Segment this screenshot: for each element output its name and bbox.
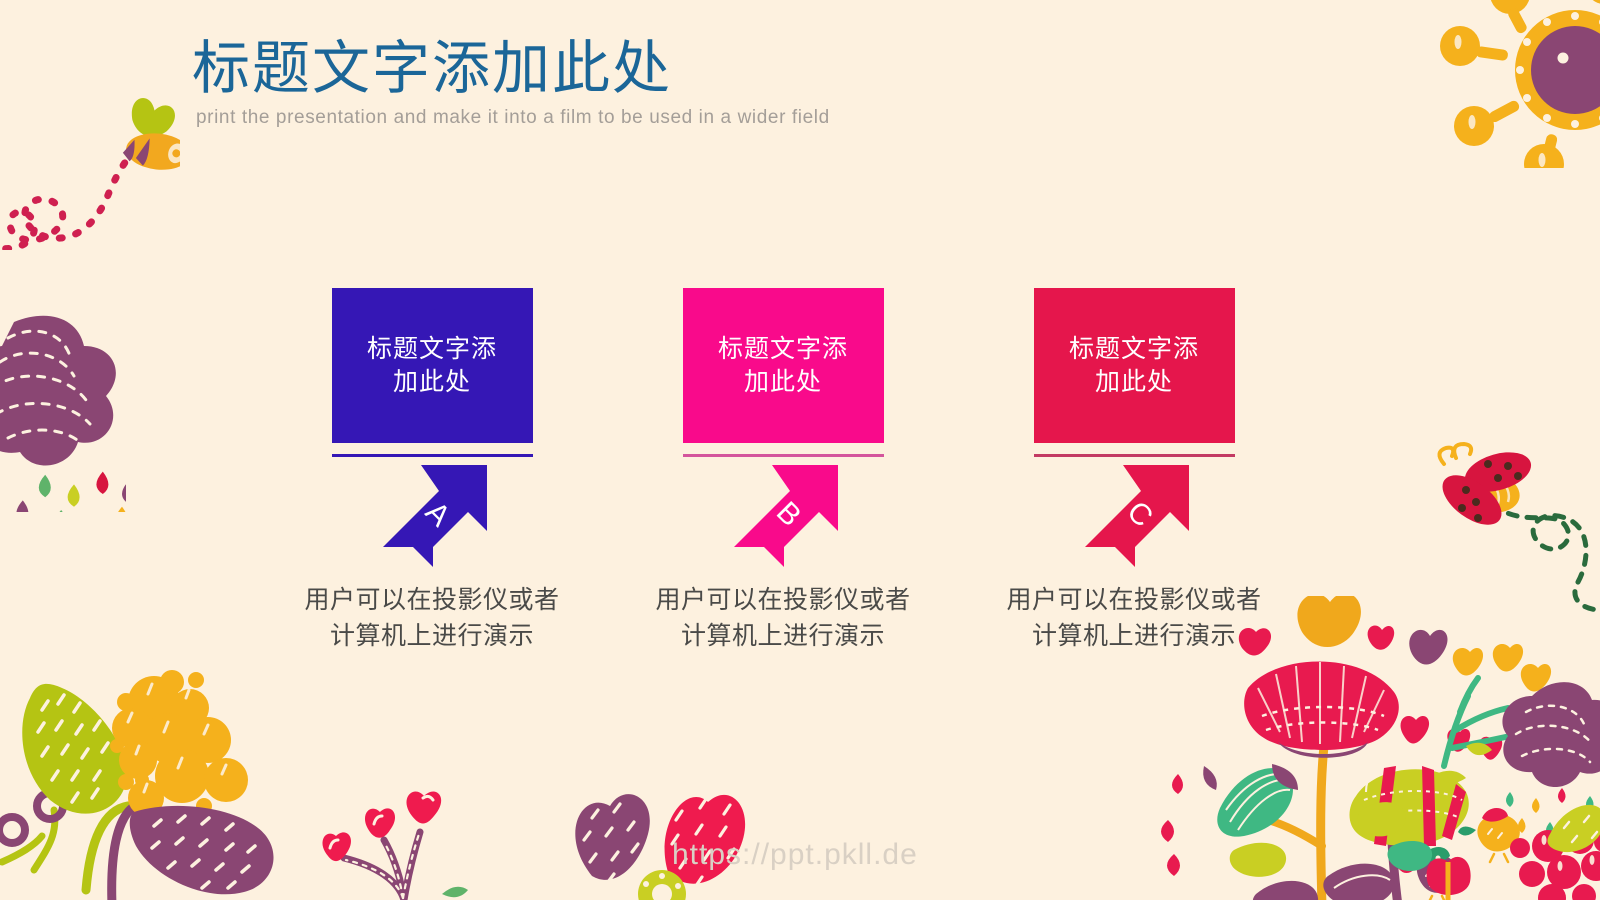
arrow-up-right-icon-a[interactable]: A [373,459,493,567]
arrow-b-wrapper: B [632,459,934,567]
card-c-underline [1034,454,1235,457]
card-a-title: 标题文字添 加此处 [367,333,497,399]
card-c[interactable]: 标题文字添 加此处 [1034,288,1235,443]
arrow-c-wrapper: C [983,459,1285,567]
arrow-up-right-icon-c[interactable]: C [1075,459,1195,567]
page-title: 标题文字添加此处 [192,38,1092,101]
arrow-up-right-icon-b[interactable]: B [724,459,844,567]
card-a[interactable]: 标题文字添 加此处 [332,288,533,443]
page-subtitle: print the presentation and make it into … [196,107,1092,129]
card-b-title: 标题文字添 加此处 [718,333,848,399]
arrow-a-wrapper: A [281,459,583,567]
content-column-b: 标题文字添 加此处 B 用户可以在投影仪或者 计算机上进行演示 [632,288,934,654]
card-a-underline [332,454,533,457]
content-columns: 标题文字添 加此处 A 用户可以在投影仪或者 计算机上进行演示 标题文字添 加此… [0,288,1600,688]
card-c-title: 标题文字添 加此处 [1069,333,1199,399]
heart-flowers-decoration [296,770,526,900]
presentation-slide: 标题文字添加此处 print the presentation and make… [0,0,1600,900]
caption-b: 用户可以在投影仪或者 计算机上进行演示 [632,583,934,654]
card-b[interactable]: 标题文字添 加此处 [683,288,884,443]
bee-with-trail-decoration [0,75,180,250]
caption-c: 用户可以在投影仪或者 计算机上进行演示 [983,583,1285,654]
caption-a: 用户可以在投影仪或者 计算机上进行演示 [281,583,583,654]
content-column-a: 标题文字添 加此处 A 用户可以在投影仪或者 计算机上进行演示 [281,288,583,654]
sun-flower-decoration [1440,0,1600,168]
slide-header: 标题文字添加此处 print the presentation and make… [192,38,1092,129]
content-column-c: 标题文字添 加此处 C 用户可以在投影仪或者 计算机上进行演示 [983,288,1285,654]
card-b-underline [683,454,884,457]
heart-bloom-decoration [540,768,760,900]
watermark-text: https://ppt.pkll.de [672,838,918,872]
